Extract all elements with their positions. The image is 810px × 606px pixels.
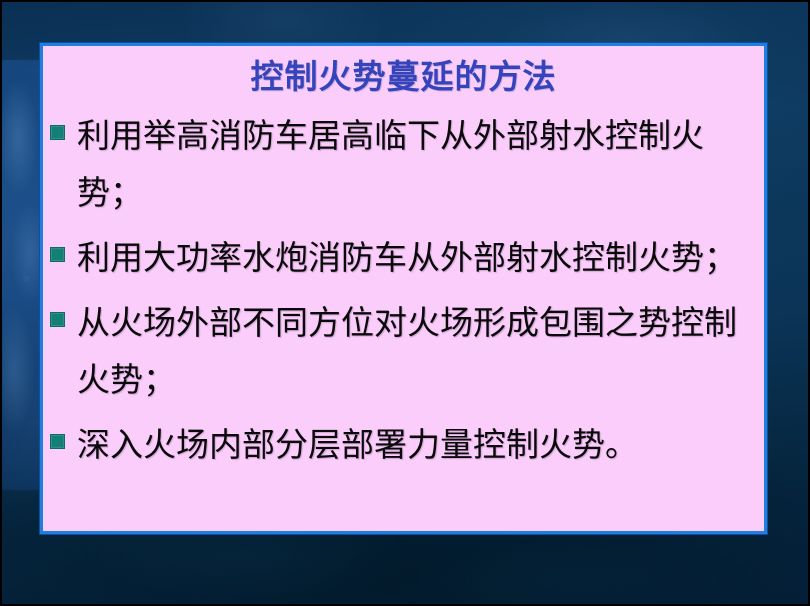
list-item: 深入火场内部分层部署力量控制火势。 <box>43 416 758 473</box>
square-bullet-icon <box>50 434 65 449</box>
slide-title: 控制火势蔓延的方法 <box>43 59 764 95</box>
bullet-text: 深入火场内部分层部署力量控制火势。 <box>77 416 758 473</box>
list-item: 利用大功率水炮消防车从外部射水控制火势； <box>43 229 758 286</box>
bullet-text: 利用举高消防车居高临下从外部射水控制火势； <box>77 107 758 221</box>
content-panel: 控制火势蔓延的方法 利用举高消防车居高临下从外部射水控制火势； 利用大功率水炮消… <box>40 43 767 534</box>
square-bullet-icon <box>50 247 65 262</box>
bullet-text: 从火场外部不同方位对火场形成包围之势控制火势； <box>77 294 758 408</box>
background-left-band <box>2 60 42 490</box>
presentation-slide: 控制火势蔓延的方法 利用举高消防车居高临下从外部射水控制火势； 利用大功率水炮消… <box>0 0 810 606</box>
square-bullet-icon <box>50 125 65 140</box>
bullet-list: 利用举高消防车居高临下从外部射水控制火势； 利用大功率水炮消防车从外部射水控制火… <box>43 107 764 473</box>
list-item: 利用举高消防车居高临下从外部射水控制火势； <box>43 107 758 221</box>
bullet-text: 利用大功率水炮消防车从外部射水控制火势； <box>77 229 758 286</box>
square-bullet-icon <box>50 312 65 327</box>
list-item: 从火场外部不同方位对火场形成包围之势控制火势； <box>43 294 758 408</box>
